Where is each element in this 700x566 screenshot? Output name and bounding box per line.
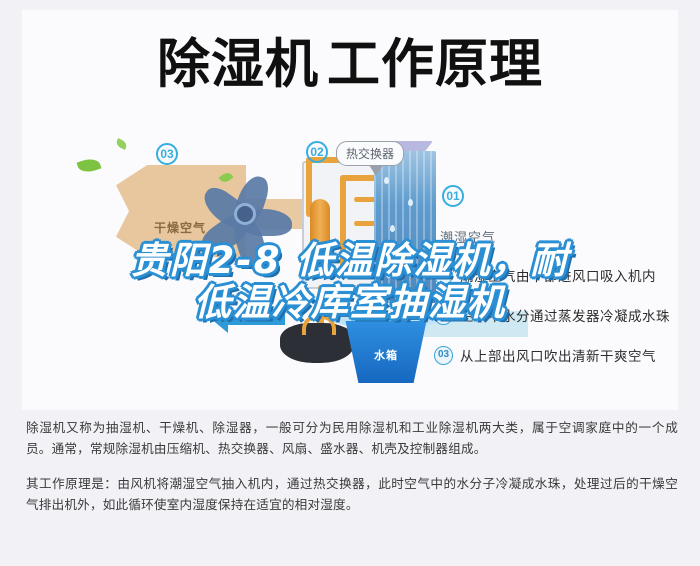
content-card: 除湿机工作原理 干燥空气 — [0, 0, 700, 566]
step-text-02: 空气中水分通过蒸发器冷凝成水珠 — [460, 305, 670, 325]
receiver-cylinder — [310, 199, 330, 263]
title-part-two: 工作原理 — [327, 38, 543, 91]
water-droplet-icon — [386, 271, 391, 278]
diagram-badge-01: 01 — [442, 185, 464, 207]
water-droplet-icon — [414, 251, 419, 258]
list-item: 03 从上部出风口吹出清新干爽空气 — [434, 345, 700, 365]
evaporator-fins — [374, 151, 436, 303]
illustration-card: 除湿机工作原理 干燥空气 — [22, 10, 678, 410]
diagram-badge-03: 03 — [156, 143, 178, 165]
body-paragraph-1: 除湿机又称为抽湿机、干燥机、除湿器，一般可分为民用除湿机和工业除湿机两大类，属于… — [26, 418, 678, 460]
step-list: 01 潮湿空气由下部进风口吸入机内 02 空气中水分通过蒸发器冷凝成水珠 03 … — [434, 265, 700, 385]
diagram-badge-02: 02 — [306, 141, 328, 163]
humid-air-intake-arrow-icon — [227, 310, 285, 325]
body-paragraph-2: 其工作原理是：由风机将潮湿空气抽入机内，通过热交换器，此时空气中的水分子冷凝成水… — [26, 474, 678, 516]
title-part-one: 除湿机 — [157, 38, 319, 91]
list-item: 02 空气中水分通过蒸发器冷凝成水珠 — [434, 305, 700, 325]
step-badge-01: 01 — [434, 266, 453, 285]
water-droplet-icon — [390, 225, 395, 232]
compressor-icon — [280, 323, 354, 363]
infographic-page: 除湿机工作原理 干燥空气 — [0, 0, 700, 566]
evaporator-fin-block — [374, 151, 436, 303]
leaf-icon — [115, 138, 128, 150]
refrigerant-pipe — [340, 175, 346, 271]
step-text-01: 潮湿空气由下部进风口吸入机内 — [460, 265, 656, 285]
water-droplet-icon — [384, 177, 389, 184]
dehumidifier-diagram: 干燥空气 — [44, 135, 700, 420]
fan-hub — [234, 203, 256, 225]
heat-exchanger-callout: 热交换器 — [336, 141, 404, 166]
list-item: 01 潮湿空气由下部进风口吸入机内 — [434, 265, 700, 285]
step-badge-03: 03 — [434, 346, 453, 365]
water-tank-label: 水箱 — [374, 347, 398, 363]
water-droplet-icon — [408, 199, 413, 206]
step-text-03: 从上部出风口吹出清新干爽空气 — [460, 345, 656, 365]
fan-icon — [192, 163, 304, 267]
step-badge-02: 02 — [434, 306, 453, 325]
page-title: 除湿机工作原理 — [22, 38, 678, 91]
leaf-icon — [77, 156, 102, 175]
humid-air-label: 潮湿空气 — [440, 227, 496, 246]
article-body: 除湿机又称为抽湿机、干燥机、除湿器，一般可分为民用除湿机和工业除湿机两大类，属于… — [26, 418, 678, 516]
